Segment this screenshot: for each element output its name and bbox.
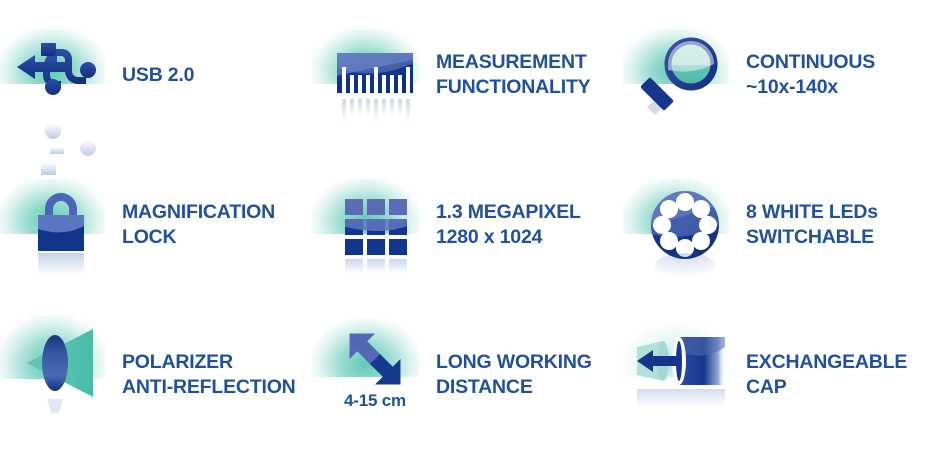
magnifier-icon [633, 23, 737, 127]
usb-icon-wrapper [0, 0, 122, 150]
padlock-icon-wrapper [0, 150, 122, 300]
feature-cell-megapixel: 1.3 MEGAPIXEL 1280 x 1024 [314, 150, 624, 300]
feature-label: MEASUREMENT FUNCTIONALITY [436, 50, 590, 100]
polarizer-icon-wrapper [0, 293, 122, 457]
pixel-grid-icon [323, 173, 427, 277]
distance-caption: 4-15 cm [314, 391, 436, 411]
double-arrow-icon-wrapper: 4-15 cm [314, 293, 436, 457]
lens-cap-icon [633, 307, 737, 411]
feature-cell-measurement: MEASUREMENT FUNCTIONALITY [314, 0, 624, 150]
ruler-icon [323, 23, 427, 127]
pixel-grid-icon-wrapper [314, 150, 436, 300]
lens-cap-icon-wrapper [624, 293, 746, 457]
feature-cell-continuous-magnification: CONTINUOUS ~10x-140x [624, 0, 944, 150]
feature-cell-white-leds: 8 WHITE LEDs SWITCHABLE [624, 150, 944, 300]
feature-cell-magnification-lock: MAGNIFICATION LOCK [0, 150, 314, 300]
magnifier-icon-wrapper [624, 0, 746, 150]
polarizer-lens-icon [9, 307, 113, 411]
feature-cell-exchangeable-cap: EXCHANGEABLE CAP [624, 300, 944, 450]
led-ring-icon-wrapper [624, 150, 746, 300]
padlock-icon [9, 173, 113, 277]
feature-label: USB 2.0 [122, 63, 194, 88]
feature-cell-polarizer: POLARIZER ANTI-REFLECTION [0, 300, 314, 450]
usb-icon [9, 23, 113, 127]
ruler-icon-wrapper [314, 0, 436, 150]
feature-cell-usb: USB 2.0 [0, 0, 314, 150]
feature-label: 1.3 MEGAPIXEL 1280 x 1024 [436, 200, 581, 250]
feature-label: POLARIZER ANTI-REFLECTION [122, 350, 296, 400]
feature-cell-working-distance: 4-15 cm LONG WORKING DISTANCE [314, 300, 624, 450]
feature-grid: USB 2.0 [0, 0, 944, 450]
feature-label: CONTINUOUS ~10x-140x [746, 50, 875, 100]
feature-label: LONG WORKING DISTANCE [436, 350, 592, 400]
feature-label: 8 WHITE LEDs SWITCHABLE [746, 200, 878, 250]
feature-label: MAGNIFICATION LOCK [122, 200, 275, 250]
led-ring-icon [633, 173, 737, 277]
feature-label: EXCHANGEABLE CAP [746, 350, 907, 400]
